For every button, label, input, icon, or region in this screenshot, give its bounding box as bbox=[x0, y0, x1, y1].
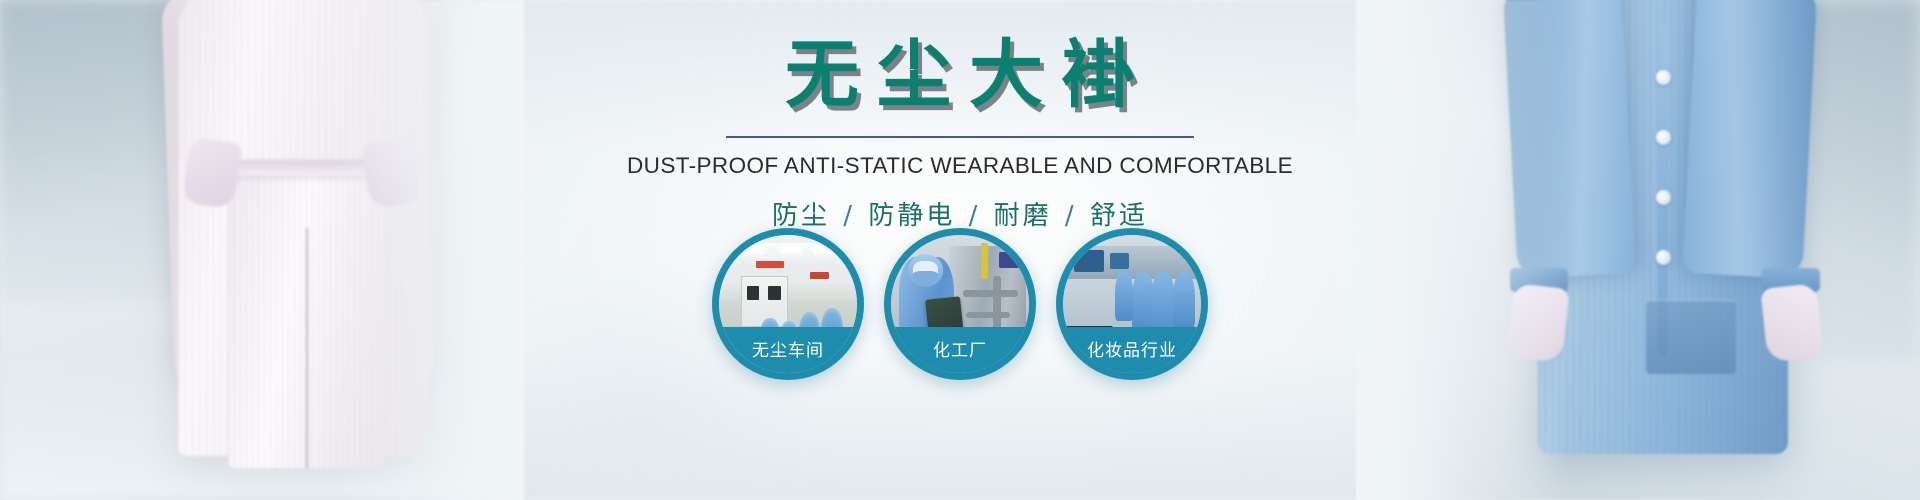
tagline-item-1: 防尘 bbox=[772, 201, 830, 231]
badge-label: 无尘车间 bbox=[719, 327, 857, 373]
tagline-item-2: 防静电 bbox=[868, 201, 955, 231]
badge-label: 化妆品行业 bbox=[1063, 327, 1201, 373]
badge-cosmetics-industry[interactable]: 化妆品行业 bbox=[1056, 228, 1208, 380]
badge-cleanroom[interactable]: 无尘车间 bbox=[712, 228, 864, 380]
tagline-item-4: 舒适 bbox=[1090, 201, 1148, 231]
tagline-separator: / bbox=[1063, 201, 1079, 231]
badge-chemical-plant[interactable]: 化工厂 bbox=[884, 228, 1036, 380]
page-title: 无尘大褂 bbox=[767, 38, 1153, 112]
badge-label: 化工厂 bbox=[891, 327, 1029, 373]
tagline-item-3: 耐磨 bbox=[994, 201, 1052, 231]
title-divider bbox=[726, 136, 1194, 138]
tagline-separator: / bbox=[841, 201, 857, 231]
product-banner: 无尘大褂 DUST-PROOF ANTI-STATIC WEARABLE AND… bbox=[0, 0, 1920, 500]
tagline-separator: / bbox=[967, 201, 983, 231]
application-badges: 无尘车间 化工厂 bbox=[712, 228, 1208, 380]
feature-tagline: 防尘 / 防静电 / 耐磨 / 舒适 bbox=[772, 195, 1148, 232]
english-subtitle: DUST-PROOF ANTI-STATIC WEARABLE AND COMF… bbox=[627, 153, 1293, 179]
